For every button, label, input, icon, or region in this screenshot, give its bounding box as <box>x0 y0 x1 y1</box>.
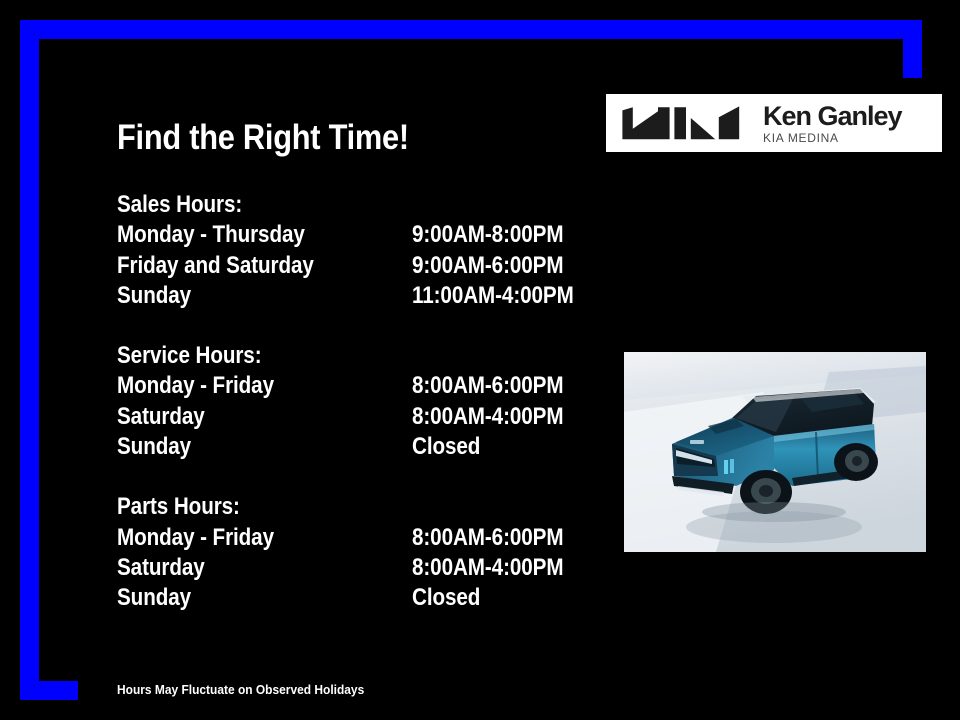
hours-row-day: Friday and Saturday <box>117 251 371 281</box>
hours-block-heading: Service Hours: <box>117 341 564 371</box>
slide-content-area: Find the Right Time! Sales Hours:Monday … <box>78 78 942 720</box>
hours-row: Sunday11:00AM-4:00PM <box>117 281 637 311</box>
hours-row-time: Closed <box>412 432 480 462</box>
hours-row-time: 8:00AM-6:00PM <box>412 523 563 553</box>
hours-row-day: Monday - Thursday <box>117 220 371 250</box>
hours-block: Parts Hours:Monday - Friday8:00AM-6:00PM… <box>117 492 637 613</box>
hours-row: Friday and Saturday9:00AM-6:00PM <box>117 251 637 281</box>
hours-row-day: Saturday <box>117 402 371 432</box>
dealer-secondary-name: KIA MEDINA <box>763 131 902 145</box>
dealer-name-block: Ken Ganley KIA MEDINA <box>763 102 902 145</box>
hours-row: Monday - Friday8:00AM-6:00PM <box>117 371 637 401</box>
hours-row: Monday - Friday8:00AM-6:00PM <box>117 523 637 553</box>
kia-logo-icon <box>614 104 746 142</box>
hours-row-day: Saturday <box>117 553 371 583</box>
hours-row: Monday - Thursday9:00AM-8:00PM <box>117 220 637 250</box>
hours-row: Saturday8:00AM-4:00PM <box>117 553 637 583</box>
hours-row-day: Sunday <box>117 281 371 311</box>
hours-row: SundayClosed <box>117 432 637 462</box>
hours-row: Saturday8:00AM-4:00PM <box>117 402 637 432</box>
blue-border-frame: Find the Right Time! Sales Hours:Monday … <box>20 20 922 700</box>
vehicle-photo <box>624 352 926 552</box>
dealer-logo-banner: Ken Ganley KIA MEDINA <box>606 94 942 152</box>
hours-block: Service Hours:Monday - Friday8:00AM-6:00… <box>117 341 637 462</box>
hours-row-time: 8:00AM-4:00PM <box>412 402 563 432</box>
hours-row-time: 8:00AM-6:00PM <box>412 371 563 401</box>
hours-row: SundayClosed <box>117 583 637 613</box>
hours-row-time: 9:00AM-6:00PM <box>412 251 563 281</box>
hours-row-time: 9:00AM-8:00PM <box>412 220 563 250</box>
hours-block-heading: Sales Hours: <box>117 190 564 220</box>
slide-canvas: Find the Right Time! Sales Hours:Monday … <box>0 0 960 720</box>
hours-row-time: 8:00AM-4:00PM <box>412 553 563 583</box>
hours-list: Sales Hours:Monday - Thursday9:00AM-8:00… <box>117 190 637 614</box>
hours-block-heading: Parts Hours: <box>117 492 564 522</box>
hours-block: Sales Hours:Monday - Thursday9:00AM-8:00… <box>117 190 637 311</box>
hours-row-time: Closed <box>412 583 480 613</box>
holiday-disclaimer: Hours May Fluctuate on Observed Holidays <box>117 682 364 698</box>
hours-row-time: 11:00AM-4:00PM <box>412 281 574 311</box>
page-title: Find the Right Time! <box>117 119 409 157</box>
hours-row-day: Monday - Friday <box>117 371 371 401</box>
hours-row-day: Sunday <box>117 583 371 613</box>
dealer-primary-name: Ken Ganley <box>763 102 902 130</box>
hours-row-day: Sunday <box>117 432 371 462</box>
hours-row-day: Monday - Friday <box>117 523 371 553</box>
